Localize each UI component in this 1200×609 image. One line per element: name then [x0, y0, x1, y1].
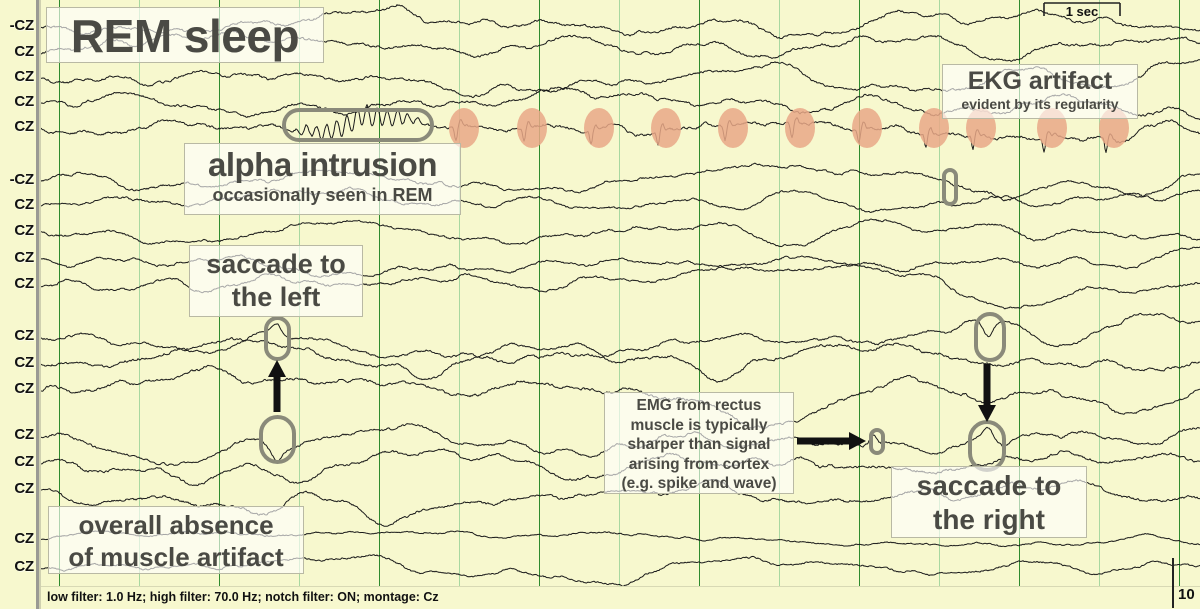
muscle-line2: of muscle artifact	[49, 541, 303, 573]
emg-line2: muscle is typically	[605, 416, 793, 436]
channel-label-7: CZ	[14, 222, 34, 239]
filter-settings-text: low filter: 1.0 Hz; high filter: 70.0 Hz…	[47, 590, 439, 604]
eeg-viewer: -CZCZCZCZCZ-CZCZCZCZCZCZCZCZCZCZCZCZCZ R…	[0, 0, 1200, 609]
annotation-ekg-artifact: EKG artifact evident by its regularity	[942, 64, 1138, 119]
channel-label-0: -CZ	[10, 17, 34, 34]
rem-sleep-title: REM sleep	[47, 10, 323, 62]
eeg-trace-10	[41, 313, 1200, 358]
channel-label-5: -CZ	[10, 171, 34, 188]
channel-label-15: CZ	[14, 480, 34, 497]
channel-label-6: CZ	[14, 196, 34, 213]
channel-label-12: CZ	[14, 380, 34, 397]
amplitude-scale-bar	[1172, 558, 1174, 608]
channel-label-16: CZ	[14, 530, 34, 547]
amplitude-scale-label: 10	[1178, 586, 1195, 603]
saccade-right-line1: saccade to	[892, 469, 1086, 503]
emg-line5: (e.g. spike and wave)	[605, 474, 793, 494]
channel-label-9: CZ	[14, 275, 34, 292]
channel-label-4: CZ	[14, 118, 34, 135]
annotation-emg-rectus: EMG from rectus muscle is typically shar…	[604, 392, 794, 494]
time-scale-label: 1 sec	[1043, 4, 1121, 19]
saccade-left-line1: saccade to	[190, 248, 362, 281]
gutter-divider-light	[39, 0, 41, 609]
saccade-left-line2: the left	[190, 281, 362, 314]
alpha-title: alpha intrusion	[185, 147, 460, 183]
saccade-right-line2: the right	[892, 503, 1086, 537]
ekg-subtitle: evident by its regularity	[943, 95, 1137, 114]
alpha-subtitle: occasionally seen in REM	[185, 183, 460, 207]
eeg-trace-7	[41, 219, 1200, 247]
channel-label-1: CZ	[14, 43, 34, 60]
muscle-line1: overall absence	[49, 509, 303, 541]
channel-label-17: CZ	[14, 558, 34, 575]
emg-line3: sharper than signal	[605, 435, 793, 455]
channel-label-3: CZ	[14, 93, 34, 110]
eeg-trace-11	[41, 338, 1200, 383]
channel-label-10: CZ	[14, 327, 34, 344]
annotation-alpha-intrusion: alpha intrusion occasionally seen in REM	[184, 143, 461, 215]
annotation-saccade-left: saccade to the left	[189, 245, 363, 317]
annotation-rem-sleep: REM sleep	[46, 7, 324, 63]
channel-label-column: -CZCZCZCZCZ-CZCZCZCZCZCZCZCZCZCZCZCZCZ	[0, 0, 36, 609]
channel-label-13: CZ	[14, 426, 34, 443]
annotation-saccade-right: saccade to the right	[891, 466, 1087, 538]
emg-line4: arising from cortex	[605, 455, 793, 475]
channel-label-8: CZ	[14, 249, 34, 266]
channel-label-2: CZ	[14, 68, 34, 85]
emg-line1: EMG from rectus	[605, 396, 793, 416]
ekg-title: EKG artifact	[943, 67, 1137, 95]
status-bar: low filter: 1.0 Hz; high filter: 70.0 Hz…	[41, 586, 1200, 609]
annotation-muscle-absence: overall absence of muscle artifact	[48, 506, 304, 574]
channel-label-14: CZ	[14, 453, 34, 470]
channel-label-11: CZ	[14, 354, 34, 371]
